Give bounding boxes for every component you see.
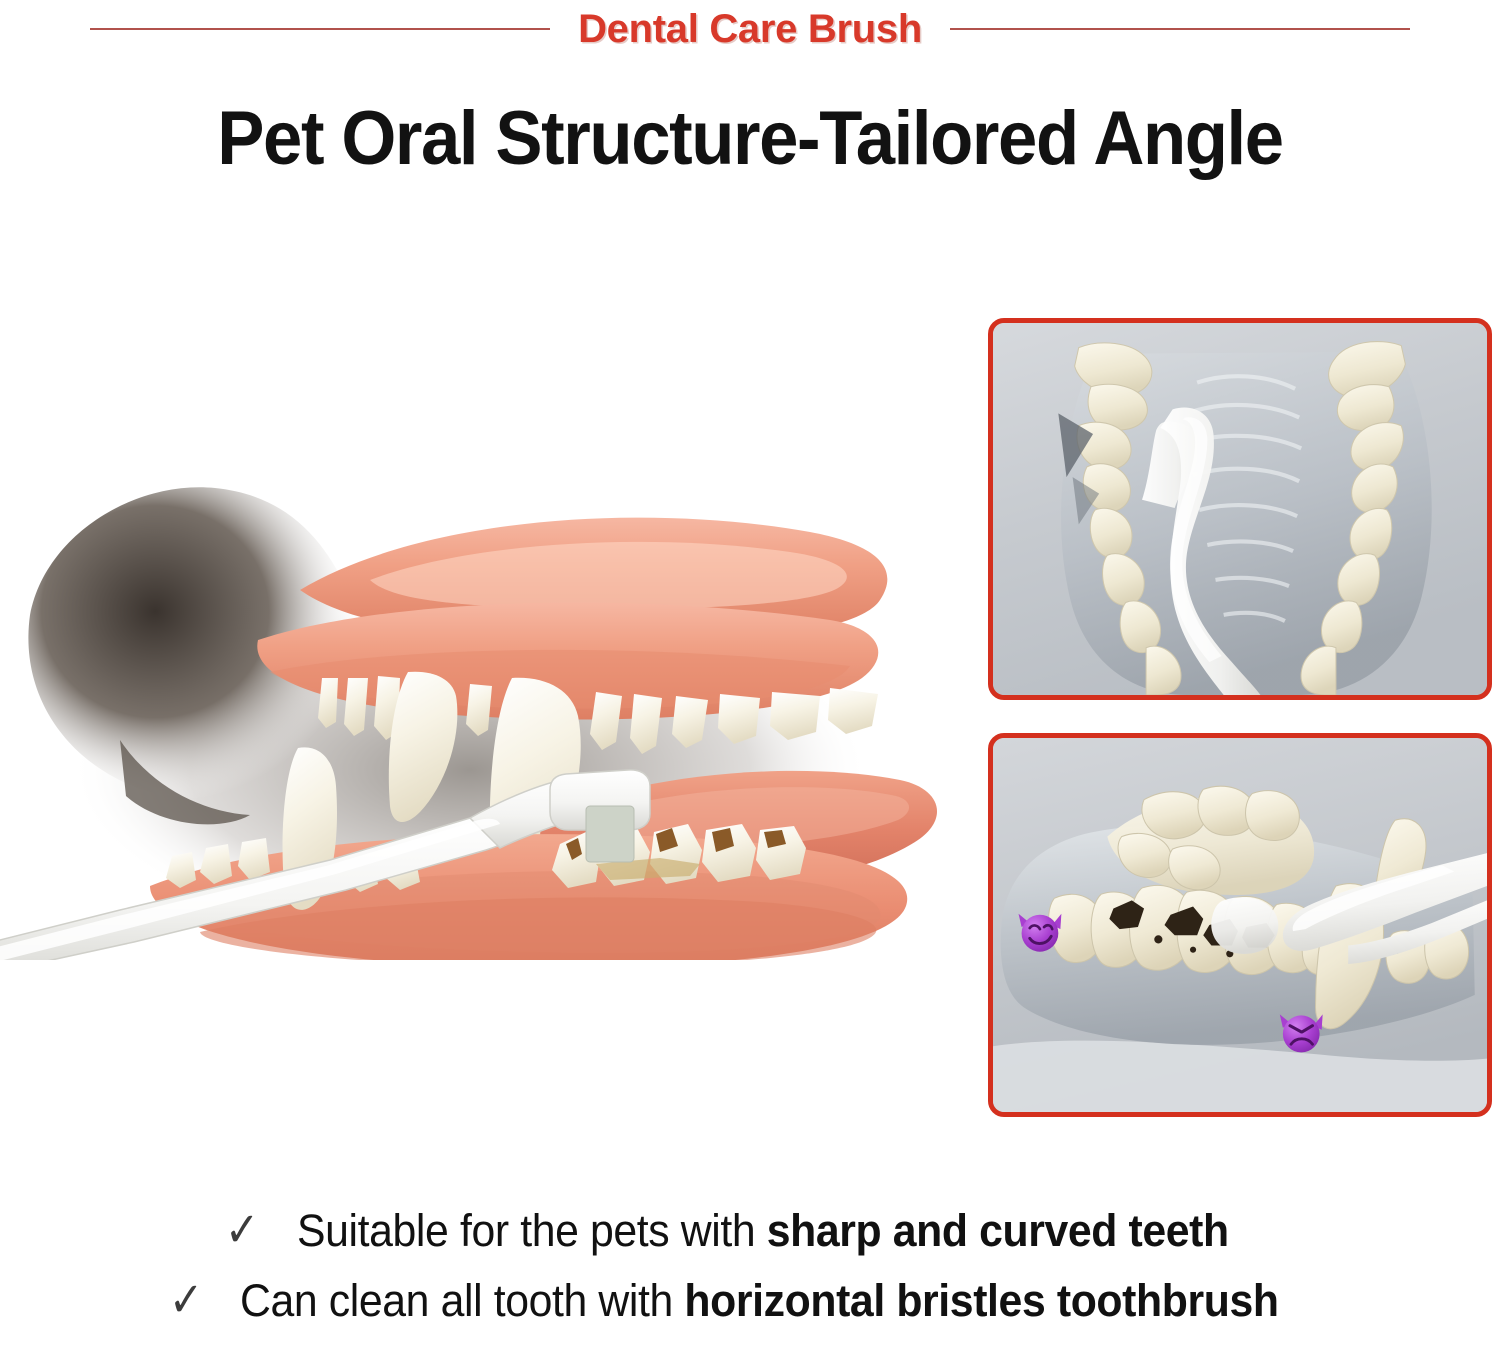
photo-lower-jaw-side-view [988, 733, 1492, 1117]
bullet-text-1: Suitable for the pets with sharp and cur… [297, 1205, 1229, 1257]
bullet-2-plain: Can clean all tooth with [240, 1275, 684, 1326]
header-title: Dental Care Brush [578, 7, 922, 52]
bullet-1-emphasis: sharp and curved teeth [766, 1205, 1228, 1256]
photo-upper-jaw-top-view [988, 318, 1492, 700]
bullet-1-plain: Suitable for the pets with [297, 1205, 767, 1256]
header-rule-right [950, 28, 1410, 30]
dog-mouth-illustration [0, 440, 960, 960]
bullet-item-2: ✓ Can clean all tooth with horizontal br… [0, 1266, 1500, 1336]
brush-bristles [586, 806, 634, 862]
header-bar: Dental Care Brush [0, 0, 1500, 58]
brush-head-photo [1211, 897, 1278, 954]
page-headline: Pet Oral Structure-Tailored Angle [53, 96, 1448, 182]
bullet-2-emphasis: horizontal bristles toothbrush [685, 1275, 1279, 1326]
check-icon: ✓ [225, 1207, 259, 1255]
bullet-item-1: ✓ Suitable for the pets with sharp and c… [0, 1196, 1500, 1266]
bullet-text-2: Can clean all tooth with horizontal bris… [240, 1275, 1279, 1327]
feature-bullet-list: ✓ Suitable for the pets with sharp and c… [0, 1196, 1500, 1336]
check-icon: ✓ [169, 1277, 203, 1325]
header-rule-left [90, 28, 550, 30]
